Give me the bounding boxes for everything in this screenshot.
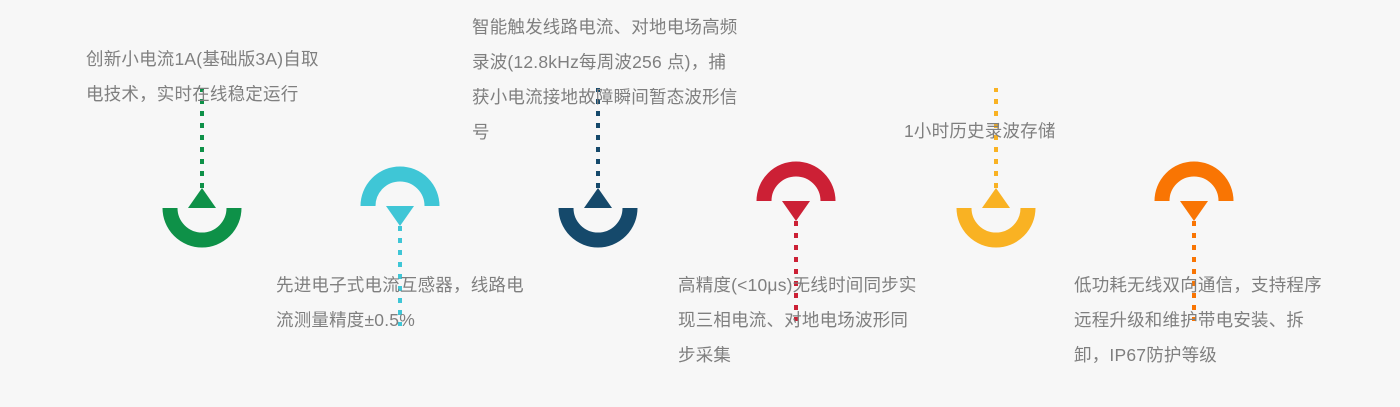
feature-caption-time-sync: 高精度(<10μs)无线时间同步实现三相电流、对地电场波形同步采集 — [678, 268, 918, 373]
icon-arc — [964, 208, 1028, 240]
icon-arc — [764, 169, 828, 201]
infographic-canvas: 创新小电流1A(基础版3A)自取电技术，实时在线稳定运行先进电子式电流互感器，线… — [0, 0, 1400, 407]
feature-caption-high-freq-recording: 智能触发线路电流、对地电场高频录波(12.8kHz每周波256 点)，捕获小电流… — [472, 10, 738, 150]
icon-arc — [368, 174, 432, 206]
feature-caption-self-powered: 创新小电流1A(基础版3A)自取电技术，实时在线稳定运行 — [86, 42, 336, 112]
icon-arrow-triangle — [982, 188, 1010, 208]
icon-arc — [566, 208, 630, 240]
feature-caption-wireless-comm: 低功耗无线双向通信，支持程序远程升级和维护带电安装、拆卸，IP67防护等级 — [1074, 268, 1324, 373]
arc-up-arrow-icon-amber — [948, 72, 1044, 272]
icon-arrow-triangle — [386, 206, 414, 226]
feature-caption-ct-accuracy: 先进电子式电流互感器，线路电流测量精度±0.5% — [276, 268, 536, 338]
icon-arrow-triangle — [1180, 201, 1208, 221]
icon-arc — [170, 208, 234, 240]
icon-arrow-triangle — [782, 201, 810, 221]
icon-arc — [1162, 169, 1226, 201]
feature-icon-history-storage[interactable] — [948, 72, 1044, 272]
icon-arrow-triangle — [584, 188, 612, 208]
icon-arrow-triangle — [188, 188, 216, 208]
feature-caption-history-storage: 1小时历史录波存储 — [904, 114, 1144, 149]
